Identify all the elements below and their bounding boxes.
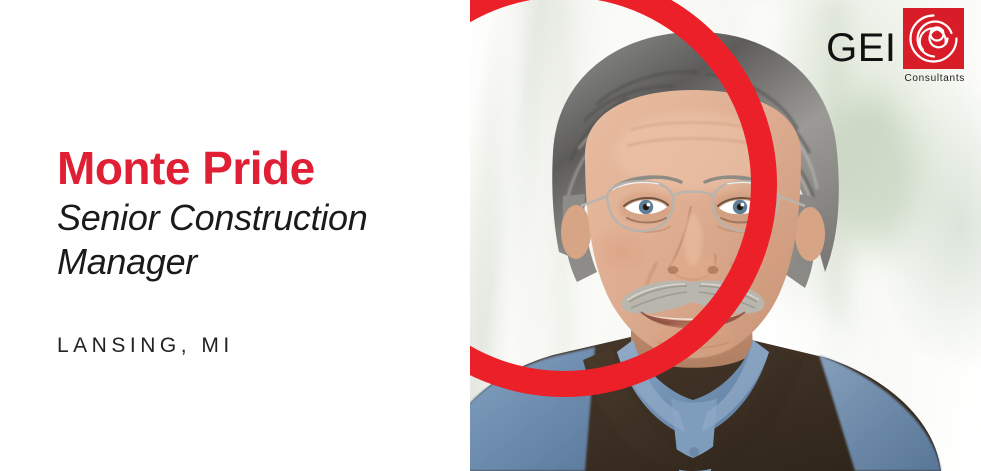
employee-title: Senior Construction Manager xyxy=(57,196,437,284)
gei-subtitle: Consultants xyxy=(904,73,965,84)
employee-name: Monte Pride xyxy=(57,144,315,192)
gei-wordmark: GEI xyxy=(826,28,896,68)
spiral-circles-icon xyxy=(903,8,964,69)
face xyxy=(581,90,805,358)
employee-location: LANSING, MI xyxy=(57,334,234,358)
gei-logo[interactable]: GEI Consultants xyxy=(826,8,965,84)
gei-logo-right: Consultants xyxy=(903,8,965,84)
employee-profile-card: Monte Pride Senior Construction Manager … xyxy=(0,0,981,471)
info-panel: Monte Pride Senior Construction Manager … xyxy=(0,0,470,471)
